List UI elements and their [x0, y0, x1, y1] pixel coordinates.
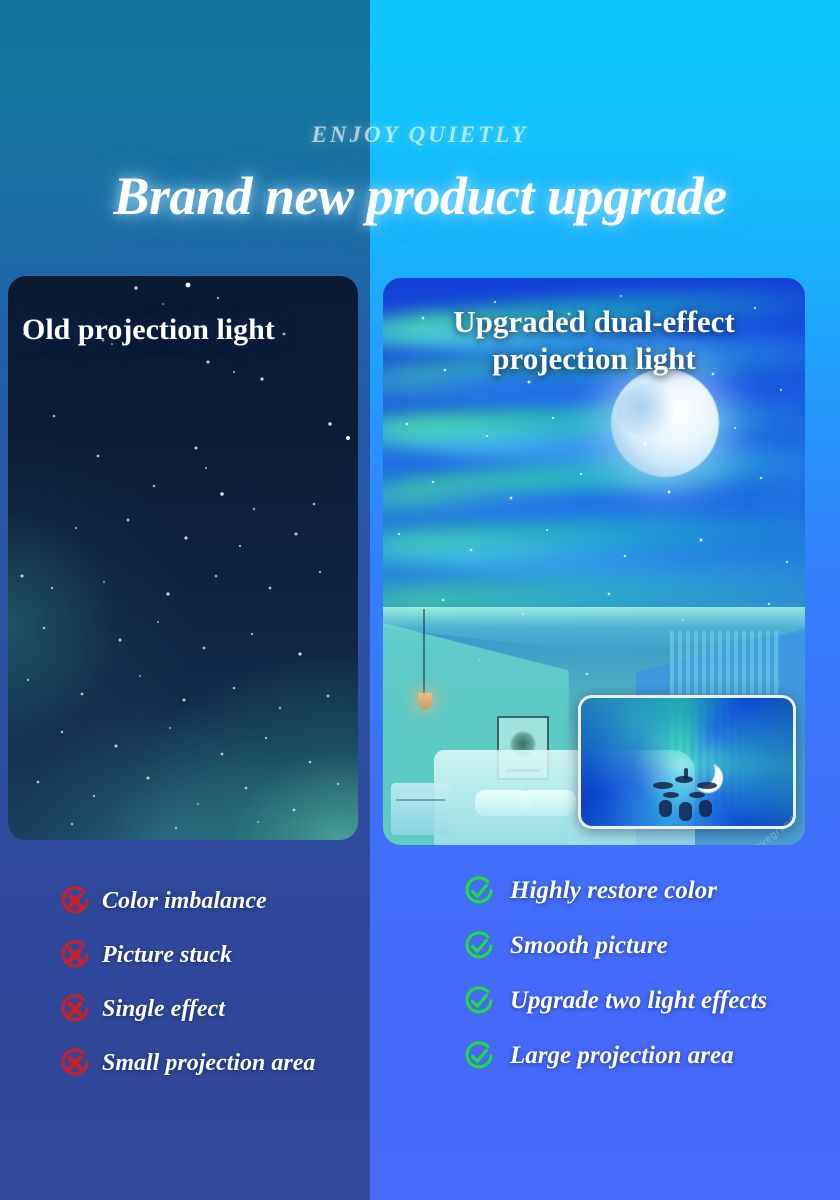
nightstand [391, 783, 449, 835]
old-feature-label: Small projection area [102, 1050, 315, 1076]
page-title: Brand new product upgrade [0, 165, 840, 227]
cross-circle-icon [58, 938, 92, 972]
check-circle-icon [462, 874, 496, 908]
new-feature-list: Highly restore colorSmooth pictureUpgrad… [462, 874, 822, 1094]
new-feature-item: Highly restore color [462, 874, 822, 908]
cross-circle-icon [58, 884, 92, 918]
check-circle-icon [462, 984, 496, 1018]
cross-circle-icon [58, 1046, 92, 1080]
old-feature-item: Small projection area [58, 1046, 368, 1080]
eyebrow-text: ENJOY QUIETLY [0, 122, 840, 148]
new-feature-label: Upgrade two light effects [510, 987, 767, 1015]
inset-projection-photo [578, 695, 796, 829]
old-feature-item: Single effect [58, 992, 368, 1026]
check-circle-icon [462, 984, 496, 1018]
check-circle-icon [462, 1039, 496, 1073]
old-feature-item: Color imbalance [58, 884, 368, 918]
new-feature-label: Smooth picture [510, 932, 668, 960]
new-feature-label: Highly restore color [510, 877, 717, 905]
cross-circle-icon [58, 938, 92, 972]
new-feature-item: Large projection area [462, 1039, 822, 1073]
old-panel-title: Old projection light [22, 312, 275, 347]
chandelier-icon [653, 766, 723, 822]
old-projection-image-panel [8, 276, 358, 840]
new-panel-title-line2: projection light [383, 341, 805, 378]
infographic-page: ENJOY QUIETLY Brand new product upgrade [0, 0, 840, 1200]
old-feature-list: Color imbalancePicture stuckSingle effec… [58, 884, 368, 1100]
cross-circle-icon [58, 884, 92, 918]
cross-circle-icon [58, 992, 92, 1026]
old-feature-label: Color imbalance [102, 888, 267, 914]
starfield-old-icon [8, 276, 358, 840]
pillow [520, 790, 576, 816]
new-panel-title-line1: Upgraded dual-effect [383, 304, 805, 341]
check-circle-icon [462, 929, 496, 963]
cross-circle-icon [58, 992, 92, 1026]
new-feature-item: Smooth picture [462, 929, 822, 963]
check-circle-icon [462, 1039, 496, 1073]
pendant-lamp-cord [423, 609, 425, 697]
cross-circle-icon [58, 1046, 92, 1080]
check-circle-icon [462, 929, 496, 963]
new-feature-item: Upgrade two light effects [462, 984, 822, 1018]
old-feature-item: Picture stuck [58, 938, 368, 972]
old-feature-label: Single effect [102, 996, 225, 1022]
old-feature-label: Picture stuck [102, 942, 232, 968]
pendant-lamp-icon [418, 693, 432, 709]
check-circle-icon [462, 874, 496, 908]
new-panel-title: Upgraded dual-effect projection light [383, 304, 805, 377]
new-feature-label: Large projection area [510, 1042, 734, 1070]
